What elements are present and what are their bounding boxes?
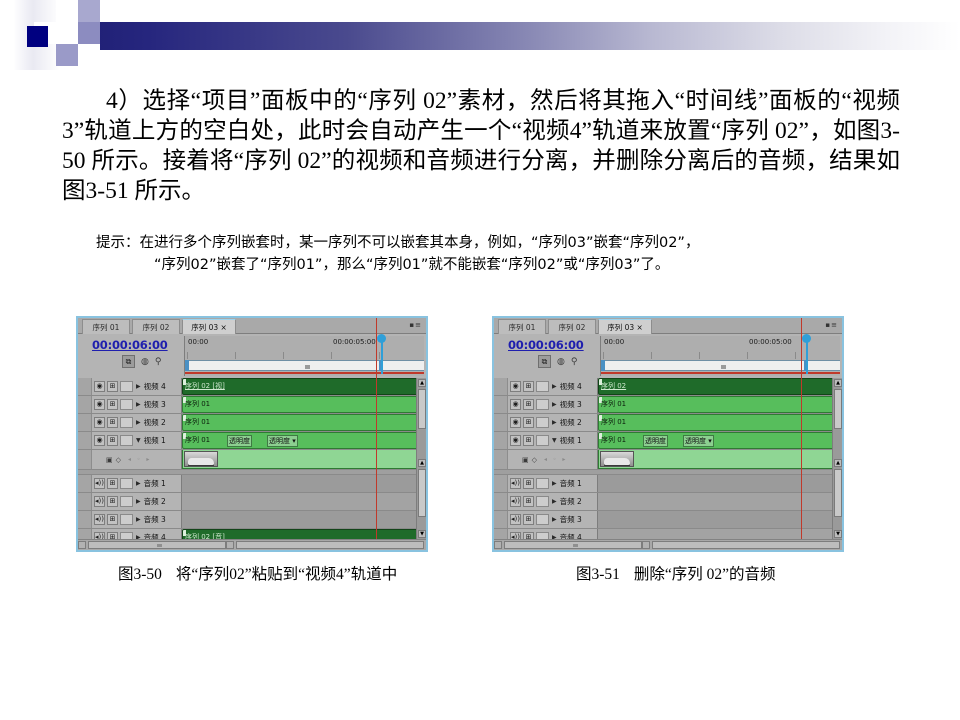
hscroll-left-icon[interactable] <box>494 541 502 549</box>
panel2-track-video-1[interactable]: ◉ ⊞ ▼ 视频 1 序列 01 透明度 透明度 ▾ <box>494 432 842 450</box>
panel2-video-1-expanded-body[interactable] <box>598 450 842 469</box>
track-target-toggle[interactable] <box>536 399 549 410</box>
chevron-right-icon[interactable]: ▶ <box>136 516 141 523</box>
panel2-tab-sequence-01[interactable]: 序列 01 <box>498 319 546 334</box>
tip-line-1: 提示：在进行多个序列嵌套时，某一序列不可以嵌套其本身，例如，“序列03”嵌套“序… <box>96 235 699 251</box>
add-keyframe-icon[interactable]: ◇ <box>116 456 121 464</box>
panel1-horizontal-scrollbar[interactable] <box>78 539 426 550</box>
eye-icon[interactable]: ◉ <box>94 381 105 392</box>
panel2-video-1-expanded-row[interactable]: ▣ ◇ ◂ ◦ ▸ <box>494 450 842 470</box>
eye-icon[interactable]: ◉ <box>94 399 105 410</box>
panel2-track-label-audio-1: 音频 1 <box>560 478 582 489</box>
figure-text-3-50: 将“序列02”粘贴到“视频4”轨道中 <box>176 566 397 583</box>
eye-icon[interactable]: ◉ <box>510 435 521 446</box>
panel2-track-video-2[interactable]: ◉ ⊞ ▶ 视频 2 序列 01 <box>494 414 842 432</box>
cti-stem <box>381 342 383 374</box>
panel2-track-audio-2[interactable]: ◂)) ⊞ ▶ 音频 2 <box>494 493 842 511</box>
hscroll-left-icon[interactable] <box>78 541 86 549</box>
panel2-clip-video-2[interactable]: 序列 01 <box>598 414 844 431</box>
panel2-track-label-master: 主音轨 <box>559 550 582 552</box>
panel2-tabbar: 序列 01 序列 02 序列 03 × ▪≡ <box>494 318 842 334</box>
figure-number-3-50: 图3-50 <box>118 566 162 583</box>
panel1-track-video-2[interactable]: ◉ ⊞ ▶ 视频 2 序列 01 <box>78 414 426 432</box>
speaker-icon[interactable]: ◂)) <box>94 514 105 525</box>
panel1-track-label-audio-3: 音频 3 <box>144 514 166 525</box>
lock-icon[interactable]: ⊞ <box>107 417 118 428</box>
header-gradient-bar <box>58 22 960 50</box>
track-target-toggle[interactable] <box>536 478 549 489</box>
chevron-right-icon[interactable]: ▶ <box>552 498 557 505</box>
eye-icon[interactable]: ◉ <box>94 417 105 428</box>
panel2-current-time-indicator[interactable] <box>802 334 811 348</box>
panel1-video-1-expanded-head[interactable]: ▣ ◇ ◂ ◦ ▸ <box>78 450 182 469</box>
header-square-d <box>78 0 100 22</box>
add-marker-icon[interactable]: ⚲ <box>155 357 162 367</box>
panel1-track-head-video-2[interactable]: ◉ ⊞ ▶ 视频 2 <box>78 414 182 431</box>
timeline-panel-figure-3-51: 序列 01 序列 02 序列 03 × ▪≡ 00:00:06:00 ⧉ ◍ ⚲… <box>492 316 844 552</box>
scroll-up-icon[interactable]: ▲ <box>834 459 842 467</box>
eye-icon[interactable]: ◉ <box>94 435 105 446</box>
work-area-start-handle[interactable] <box>601 360 605 371</box>
panel2-clip-label-video-2: 序列 01 <box>601 417 626 427</box>
panel2-track-head-video-1[interactable]: ◉ ⊞ ▼ 视频 1 <box>494 432 598 449</box>
cti-stem <box>806 342 808 374</box>
work-area-start-handle[interactable] <box>185 360 189 371</box>
work-area-grip[interactable] <box>305 365 310 369</box>
chevron-right-icon[interactable]: ▶ <box>552 419 557 426</box>
panel2-track-label-video-1: 视频 1 <box>560 435 582 446</box>
panel2-track-label-video-3: 视频 3 <box>560 399 582 410</box>
master-target-toggle[interactable] <box>119 550 132 552</box>
panel1-clip-label-video-2: 序列 01 <box>185 417 210 427</box>
panel1-ruler-redline <box>185 372 424 374</box>
panel1-ruler-label-mid: 00:00:05:00 <box>333 338 376 346</box>
panel2-track-head-audio-3[interactable]: ◂)) ⊞ ▶ 音频 3 <box>494 511 598 528</box>
speaker-icon[interactable]: ◂)) <box>510 496 521 507</box>
panel2-timecode-bar: 00:00:06:00 ⧉ ◍ ⚲ 00:00 00:00:05:00 <box>494 334 842 378</box>
panel2-track-body-audio-3[interactable] <box>598 511 842 528</box>
snap-toggle-icon[interactable]: ⧉ <box>538 355 551 368</box>
eye-icon[interactable]: ◉ <box>510 381 521 392</box>
hscroll-zoom-icon[interactable] <box>642 541 650 549</box>
lock-icon[interactable]: ⊞ <box>107 496 118 507</box>
scroll-up-icon[interactable]: ▲ <box>418 379 426 387</box>
chevron-down-icon[interactable]: ▼ <box>552 437 557 444</box>
panel1-track-label-video-2: 视频 2 <box>144 417 166 428</box>
panel1-track-body-audio-3[interactable] <box>182 511 426 528</box>
panel1-tabbar: 序列 01 序列 02 序列 03 × ▪≡ <box>78 318 426 334</box>
panel1-ruler-label-start: 00:00 <box>188 338 208 346</box>
header-square-a <box>56 0 78 22</box>
lock-icon[interactable]: ⊞ <box>523 399 534 410</box>
panel1-track-head-video-4[interactable]: ◉ ⊞ ▶ 视频 4 <box>78 378 182 395</box>
add-keyframe-icon[interactable]: ◇ <box>532 456 537 464</box>
panel2-track-head-audio-1[interactable]: ◂)) ⊞ ▶ 音频 1 <box>494 475 598 492</box>
chevron-down-icon[interactable]: ▼ <box>136 437 141 444</box>
panel1-current-timecode[interactable]: 00:00:06:00 <box>92 338 168 352</box>
panel2-time-ruler[interactable]: 00:00 00:00:05:00 <box>600 336 840 376</box>
lock-icon[interactable]: ⊞ <box>523 478 534 489</box>
panel2-current-timecode[interactable]: 00:00:06:00 <box>508 338 584 352</box>
panel1-track-head-video-3[interactable]: ◉ ⊞ ▶ 视频 3 <box>78 396 182 413</box>
panel2-track-label-audio-3: 音频 3 <box>560 514 582 525</box>
panel1-tab-sequence-02[interactable]: 序列 02 <box>132 319 180 334</box>
panel1-menu-icon[interactable]: ▪≡ <box>409 321 422 329</box>
panel2-track-label-audio-2: 音频 2 <box>560 496 582 507</box>
chevron-right-icon[interactable]: ▶ <box>552 480 557 487</box>
panel1-video-1-keyframe-lane[interactable] <box>182 450 426 469</box>
panel2-horizontal-scrollbar[interactable] <box>494 539 842 550</box>
lock-icon[interactable]: ⊞ <box>107 435 118 446</box>
track-target-toggle[interactable] <box>536 417 549 428</box>
slide-header-decoration <box>0 0 960 70</box>
panel2-track-body-video-1[interactable]: 序列 01 透明度 透明度 ▾ <box>598 432 842 449</box>
panel1-time-ruler[interactable]: 00:00 00:00:05:00 <box>184 336 424 376</box>
paragraph-text: 4）选择“项目”面板中的“序列 02”素材，然后将其拖入“时间线”面板的“视频3… <box>62 88 900 204</box>
panel2-keyframe-chip-2[interactable]: 透明度 ▾ <box>683 435 714 447</box>
figure-caption-3-51: 图3-51删除“序列 02”的音频 <box>576 562 776 584</box>
chevron-right-icon[interactable]: ▶ <box>136 383 141 390</box>
panel1-track-audio-2[interactable]: ◂)) ⊞ ▶ 音频 2 <box>78 493 426 511</box>
panel1-clip-video-3[interactable]: 序列 01 <box>182 396 426 413</box>
panel1-track-body-audio-1[interactable] <box>182 475 426 492</box>
panel2-tab-sequence-02[interactable]: 序列 02 <box>548 319 596 334</box>
lock-icon[interactable]: ⊞ <box>523 496 534 507</box>
panel1-audio-scroll-thumb[interactable] <box>418 469 426 517</box>
panel2-track-body-video-4[interactable]: 序列 02 <box>598 378 842 395</box>
panel1-track-audio-1[interactable]: ◂)) ⊞ ▶ 音频 1 <box>78 475 426 493</box>
panel1-work-area-bar[interactable] <box>185 360 424 371</box>
panel1-track-label-audio-2: 音频 2 <box>144 496 166 507</box>
panel2-track-body-audio-2[interactable] <box>598 493 842 510</box>
panel2-keyframe-chip-1[interactable]: 透明度 <box>643 435 668 447</box>
track-target-toggle[interactable] <box>536 435 549 446</box>
panel1-track-body-video-3[interactable]: 序列 01 <box>182 396 426 413</box>
panel2-track-audio-1[interactable]: ◂)) ⊞ ▶ 音频 1 <box>494 475 842 493</box>
master-target-toggle[interactable] <box>535 550 548 552</box>
speaker-icon[interactable]: ◂)) <box>510 478 521 489</box>
panel2-tab-sequence-03[interactable]: 序列 03 × <box>598 319 652 334</box>
panel2-clip-label-video-4: 序列 02 <box>601 381 626 391</box>
chevron-right-icon[interactable]: ▶ <box>552 383 557 390</box>
work-area-grip[interactable] <box>721 365 726 369</box>
panel2-video-1-keyframe-lane[interactable] <box>598 450 844 469</box>
header-square-navy <box>27 26 48 47</box>
panel2-clip-video-4[interactable]: 序列 02 <box>598 378 844 395</box>
tip-line-2: “序列02”嵌套了“序列01”，那么“序列01”就不能嵌套“序列02”或“序列0… <box>96 254 876 276</box>
header-square-c <box>56 44 78 66</box>
track-target-toggle[interactable] <box>120 381 133 392</box>
lock-icon[interactable]: ⊞ <box>107 399 118 410</box>
panel1-clip-label-video-3: 序列 01 <box>185 399 210 409</box>
panel2-hscroll-thumb[interactable] <box>504 541 642 549</box>
chevron-right-icon[interactable]: ▶ <box>136 498 141 505</box>
panel1-track-area: ◉ ⊞ ▶ 视频 4 序列 02 [视] ◉ ⊞ ▶ 视频 3 <box>78 378 426 552</box>
clip-thumbnail-icon <box>600 451 634 467</box>
track-target-toggle[interactable] <box>120 417 133 428</box>
panel1-audio-scrollbar[interactable]: ▲ ▼ <box>416 458 426 539</box>
panel1-video-1-expanded-row[interactable]: ▣ ◇ ◂ ◦ ▸ <box>78 450 426 470</box>
panel1-track-head-audio-3[interactable]: ◂)) ⊞ ▶ 音频 3 <box>78 511 182 528</box>
panel2-playhead[interactable] <box>801 318 802 539</box>
panel1-hscroll-rest[interactable] <box>236 541 424 549</box>
lock-icon[interactable]: ⊞ <box>107 514 118 525</box>
header-square-e <box>78 22 100 44</box>
panel2-clip-label-video-3: 序列 01 <box>601 399 626 409</box>
panel1-hscroll-thumb[interactable] <box>88 541 226 549</box>
lock-icon[interactable]: ⊞ <box>523 417 534 428</box>
panel1-clip-video-4[interactable]: 序列 02 [视] <box>182 378 426 395</box>
panel1-keyframe-chip-2[interactable]: 透明度 ▾ <box>267 435 298 447</box>
chevron-right-icon[interactable]: ▶ <box>136 480 141 487</box>
panel2-track-body-video-3[interactable]: 序列 01 <box>598 396 842 413</box>
timeline-panel-figure-3-50: 序列 01 序列 02 序列 03 × ▪≡ 00:00:06:00 ⧉ ◍ ⚲… <box>76 316 428 552</box>
keyframe-nav-arrows[interactable]: ◂ ◦ ▸ <box>544 456 567 463</box>
body-paragraph: 4）选择“项目”面板中的“序列 02”素材，然后将其拖入“时间线”面板的“视频3… <box>62 86 900 206</box>
track-target-toggle[interactable] <box>536 496 549 507</box>
panel2-menu-icon[interactable]: ▪≡ <box>825 321 838 329</box>
panel1-track-head-audio-1[interactable]: ◂)) ⊞ ▶ 音频 1 <box>78 475 182 492</box>
panel1-keyframe-chip-1[interactable]: 透明度 <box>227 435 252 447</box>
panel1-video-1-expanded-body[interactable] <box>182 450 426 469</box>
scroll-up-icon[interactable]: ▲ <box>418 459 426 467</box>
marker-icon[interactable]: ◍ <box>141 357 149 367</box>
panel1-track-label-master: 主音轨 <box>143 550 166 552</box>
header-square-f <box>78 44 100 66</box>
track-target-toggle[interactable] <box>120 435 133 446</box>
panel1-tab-sequence-03[interactable]: 序列 03 × <box>182 319 236 334</box>
panel2-track-label-video-4: 视频 4 <box>560 381 582 392</box>
track-target-toggle[interactable] <box>536 514 549 525</box>
lock-icon[interactable]: ⊞ <box>107 381 118 392</box>
panel1-track-video-3[interactable]: ◉ ⊞ ▶ 视频 3 序列 01 <box>78 396 426 414</box>
panel2-track-head-audio-2[interactable]: ◂)) ⊞ ▶ 音频 2 <box>494 493 598 510</box>
panel1-video-scroll-thumb[interactable] <box>418 389 426 429</box>
panel2-track-body-audio-1[interactable] <box>598 475 842 492</box>
lock-icon[interactable]: ⊞ <box>107 478 118 489</box>
speaker-icon[interactable]: ◂)) <box>510 514 521 525</box>
panel1-current-time-indicator[interactable] <box>377 334 386 348</box>
figure-text-3-51: 删除“序列 02”的音频 <box>634 566 776 583</box>
add-marker-icon[interactable]: ⚲ <box>571 357 578 367</box>
eye-icon[interactable]: ◉ <box>510 417 521 428</box>
tip-block: 提示：在进行多个序列嵌套时，某一序列不可以嵌套其本身，例如，“序列03”嵌套“序… <box>96 232 876 276</box>
panel1-clip-video-2[interactable]: 序列 01 <box>182 414 426 431</box>
snap-toggle-icon[interactable]: ⧉ <box>122 355 135 368</box>
panel1-track-label-video-3: 视频 3 <box>144 399 166 410</box>
speaker-icon[interactable]: ◂)) <box>94 496 105 507</box>
clip-thumbnail-icon <box>184 451 218 467</box>
hscroll-zoom-icon[interactable] <box>226 541 234 549</box>
panel1-timecode-bar: 00:00:06:00 ⧉ ◍ ⚲ 00:00 00:00:05:00 <box>78 334 426 378</box>
panel2-track-label-video-2: 视频 2 <box>560 417 582 428</box>
figure-caption-3-50: 图3-50将“序列02”粘贴到“视频4”轨道中 <box>118 562 397 584</box>
panel1-track-body-audio-2[interactable] <box>182 493 426 510</box>
track-target-toggle[interactable] <box>536 381 549 392</box>
panel1-track-head-audio-2[interactable]: ◂)) ⊞ ▶ 音频 2 <box>78 493 182 510</box>
scroll-down-icon[interactable]: ▼ <box>834 530 842 538</box>
panel2-clip-label-video-1: 序列 01 <box>601 435 626 445</box>
keyframe-nav-arrows[interactable]: ◂ ◦ ▸ <box>128 456 151 463</box>
panel2-video-scroll-thumb[interactable] <box>834 389 842 429</box>
panel2-ruler-label-start: 00:00 <box>604 338 624 346</box>
panel2-ruler-label-mid: 00:00:05:00 <box>749 338 792 346</box>
panel1-track-body-video-4[interactable]: 序列 02 [视] <box>182 378 426 395</box>
panel1-track-label-audio-1: 音频 1 <box>144 478 166 489</box>
lock-icon[interactable]: ⊞ <box>523 381 534 392</box>
panel2-track-video-3[interactable]: ◉ ⊞ ▶ 视频 3 序列 01 <box>494 396 842 414</box>
panel1-clip-label-video-1: 序列 01 <box>185 435 210 445</box>
panel1-ruler-ticks: 00:00 00:00:05:00 <box>185 336 424 360</box>
panel1-track-label-video-4: 视频 4 <box>144 381 166 392</box>
panel2-clip-video-1[interactable]: 序列 01 透明度 透明度 ▾ <box>598 432 844 449</box>
panel2-audio-scrollbar[interactable]: ▲ ▼ <box>832 458 842 539</box>
panel1-clip-label-video-4: 序列 02 [视] <box>185 381 225 391</box>
chevron-right-icon[interactable]: ▶ <box>552 516 557 523</box>
track-target-toggle[interactable] <box>120 496 133 507</box>
panel2-hscroll-rest[interactable] <box>652 541 840 549</box>
lock-icon[interactable]: ⊞ <box>523 514 534 525</box>
panel1-tab-sequence-01[interactable]: 序列 01 <box>82 319 130 334</box>
speaker-icon[interactable]: ◂)) <box>94 478 105 489</box>
panel2-tool-group: ⧉ ◍ ⚲ <box>538 355 577 368</box>
panel1-track-body-video-1[interactable]: 序列 01 透明度 透明度 ▾ <box>182 432 426 449</box>
track-target-toggle[interactable] <box>120 478 133 489</box>
chevron-right-icon[interactable]: ▶ <box>552 401 557 408</box>
panel1-track-audio-3[interactable]: ◂)) ⊞ ▶ 音频 3 <box>78 511 426 529</box>
panel2-track-head-video-2[interactable]: ◉ ⊞ ▶ 视频 2 <box>494 414 598 431</box>
panel2-track-audio-3[interactable]: ◂)) ⊞ ▶ 音频 3 <box>494 511 842 529</box>
lock-icon[interactable]: ⊞ <box>523 435 534 446</box>
panel2-ruler-redline <box>601 372 840 374</box>
panel2-clip-video-3[interactable]: 序列 01 <box>598 396 844 413</box>
track-target-toggle[interactable] <box>120 514 133 525</box>
marker-icon[interactable]: ◍ <box>557 357 565 367</box>
panel1-track-body-video-2[interactable]: 序列 01 <box>182 414 426 431</box>
show-keyframes-icon[interactable]: ▣ <box>522 456 529 464</box>
panel1-tool-group: ⧉ ◍ ⚲ <box>122 355 161 368</box>
panel1-track-label-video-1: 视频 1 <box>144 435 166 446</box>
panel1-playhead[interactable] <box>376 318 377 539</box>
chevron-right-icon[interactable]: ▶ <box>136 419 141 426</box>
panel2-video-1-expanded-head[interactable]: ▣ ◇ ◂ ◦ ▸ <box>494 450 598 469</box>
show-keyframes-icon[interactable]: ▣ <box>106 456 113 464</box>
scroll-down-icon[interactable]: ▼ <box>418 530 426 538</box>
figure-number-3-51: 图3-51 <box>576 566 620 583</box>
panel2-audio-scroll-thumb[interactable] <box>834 469 842 517</box>
chevron-right-icon[interactable]: ▶ <box>136 401 141 408</box>
panel2-track-video-4[interactable]: ◉ ⊞ ▶ 视频 4 序列 02 <box>494 378 842 396</box>
panel2-track-body-video-2[interactable]: 序列 01 <box>598 414 842 431</box>
scroll-up-icon[interactable]: ▲ <box>834 379 842 387</box>
panel2-track-head-video-3[interactable]: ◉ ⊞ ▶ 视频 3 <box>494 396 598 413</box>
panel1-track-video-4[interactable]: ◉ ⊞ ▶ 视频 4 序列 02 [视] <box>78 378 426 396</box>
panel1-clip-video-1[interactable]: 序列 01 透明度 透明度 ▾ <box>182 432 426 449</box>
eye-icon[interactable]: ◉ <box>510 399 521 410</box>
header-square-b <box>56 22 78 44</box>
panel1-track-head-video-1[interactable]: ◉ ⊞ ▼ 视频 1 <box>78 432 182 449</box>
panel2-track-head-video-4[interactable]: ◉ ⊞ ▶ 视频 4 <box>494 378 598 395</box>
panel1-track-video-1[interactable]: ◉ ⊞ ▼ 视频 1 序列 01 透明度 透明度 ▾ <box>78 432 426 450</box>
track-target-toggle[interactable] <box>120 399 133 410</box>
panel2-track-area: ◉ ⊞ ▶ 视频 4 序列 02 ◉ ⊞ ▶ 视频 3 <box>494 378 842 552</box>
